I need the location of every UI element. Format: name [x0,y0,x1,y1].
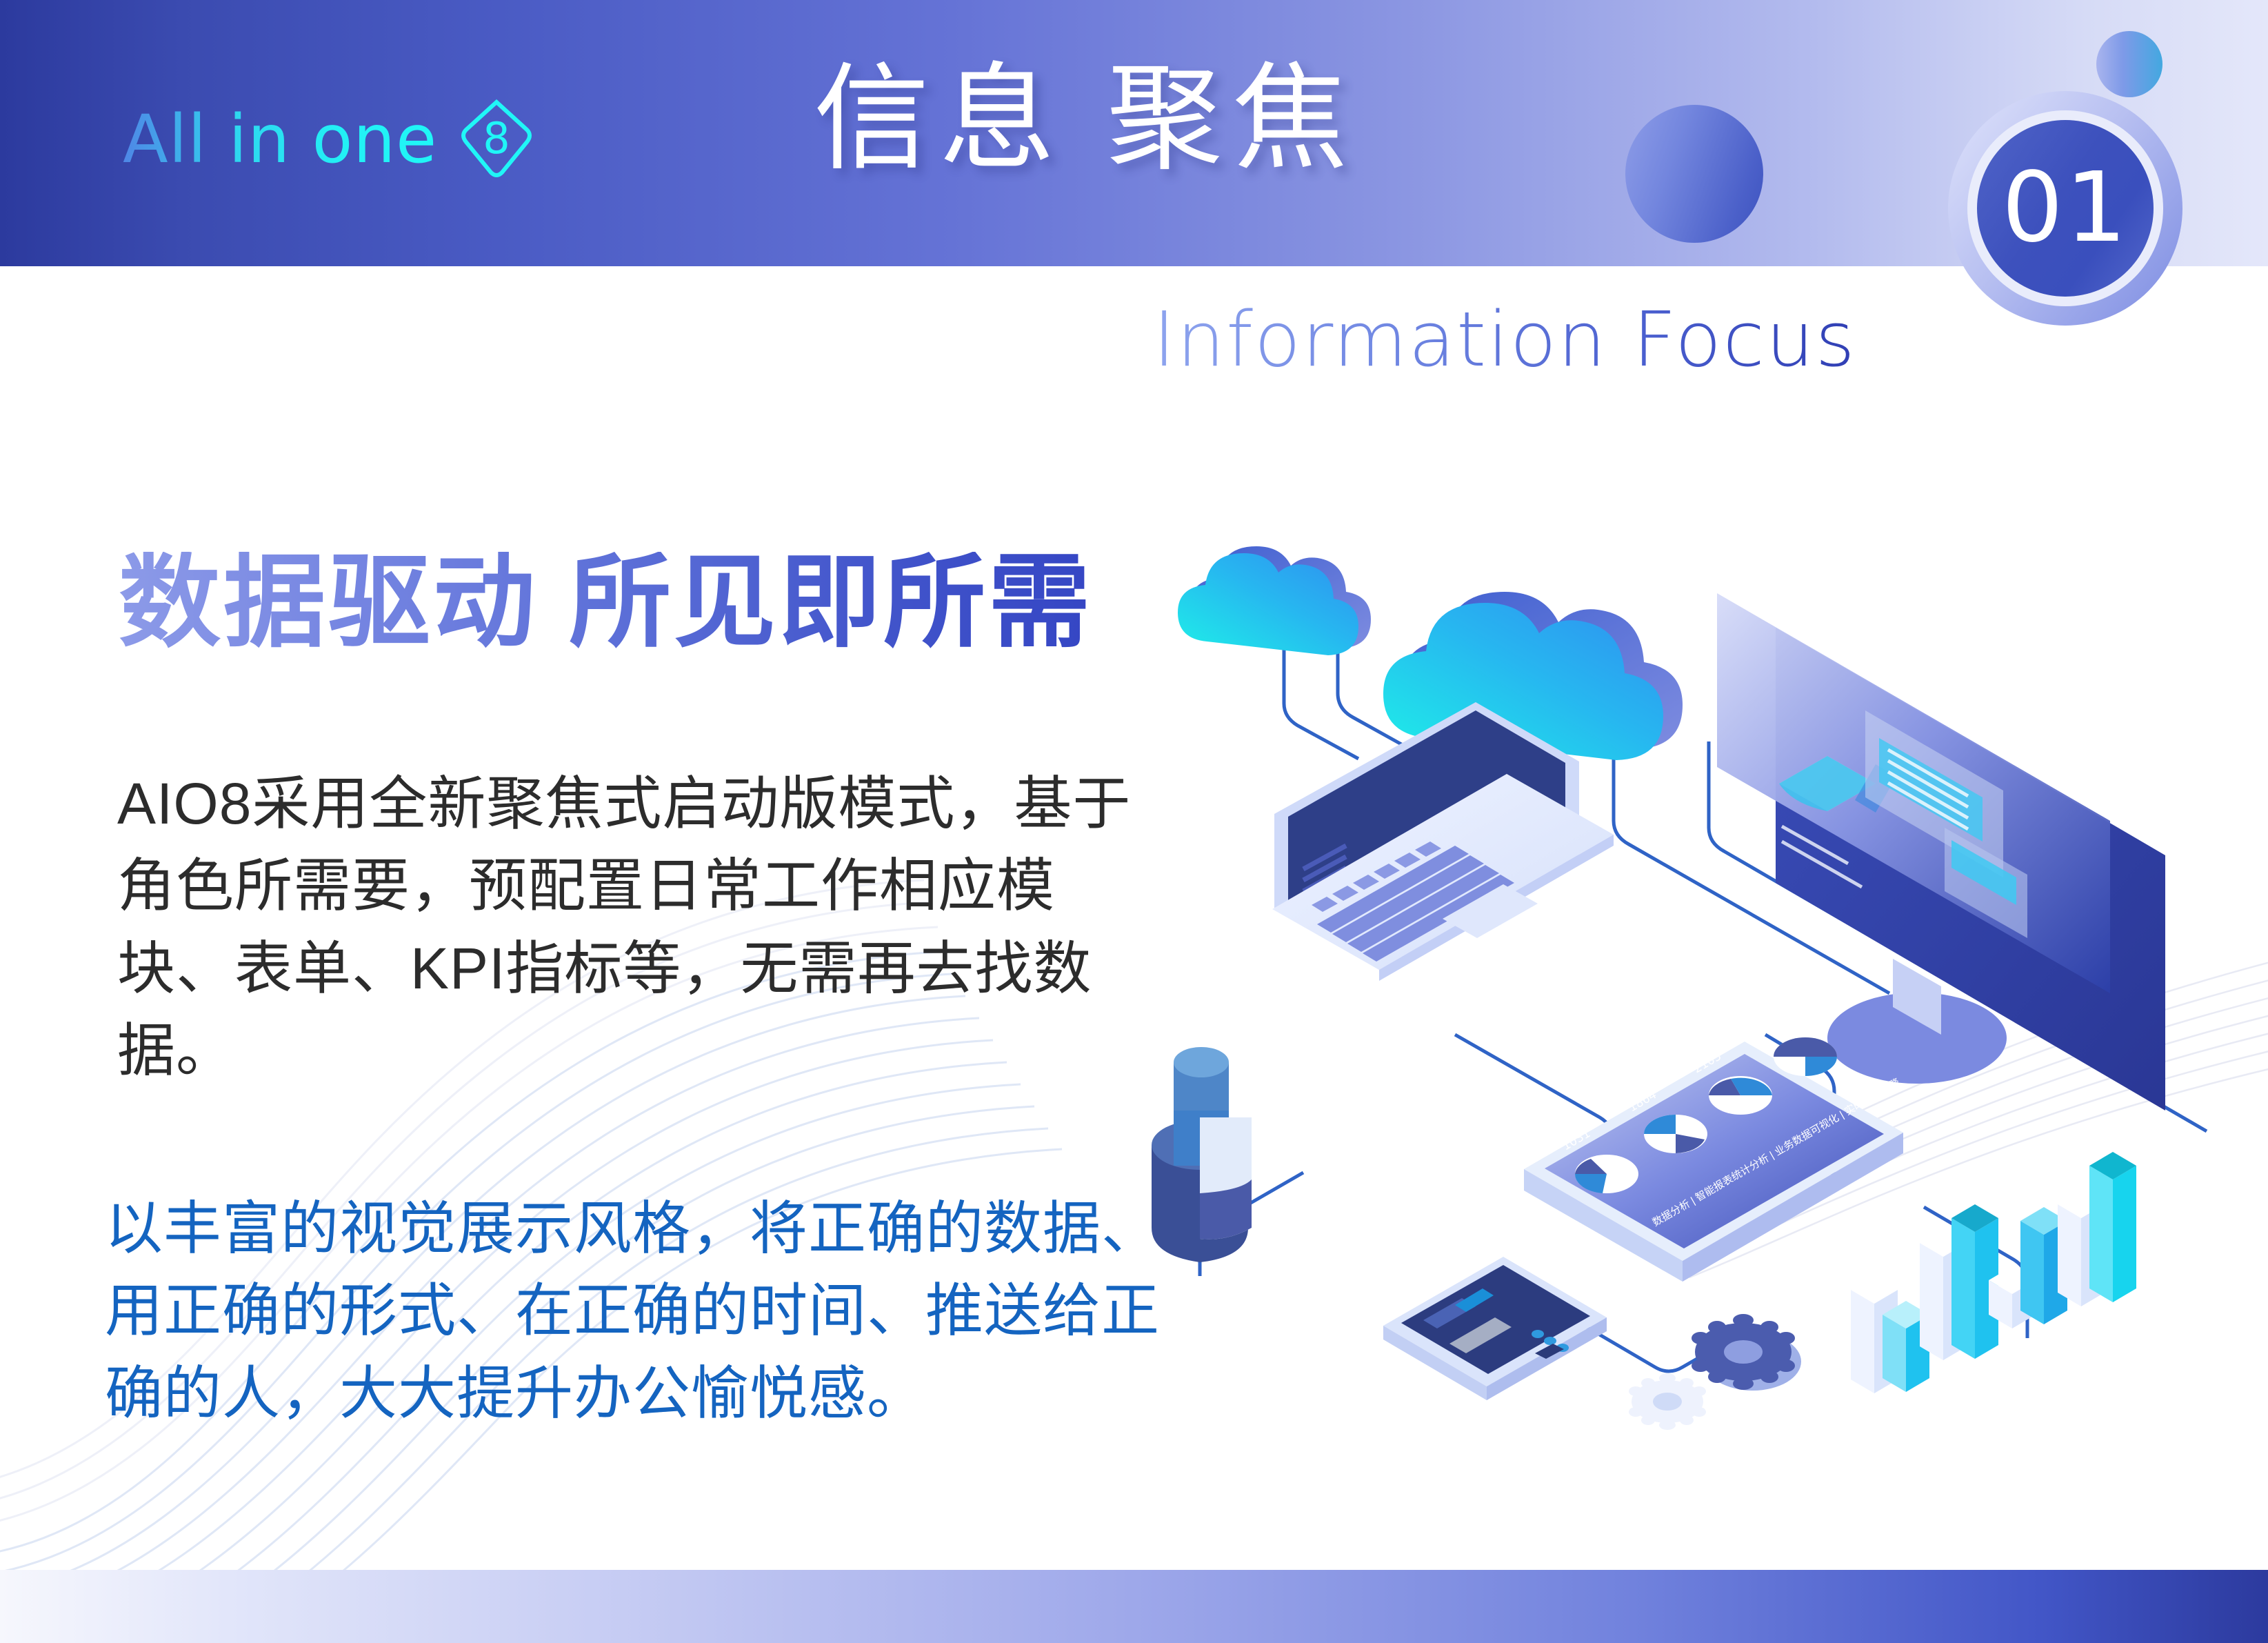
page-title: 信息 聚焦 [814,61,1358,177]
database-cylinder [1152,1047,1252,1262]
isometric-bar-chart [1851,1152,2136,1393]
body-paragraph-primary: AIO8采用全新聚焦式启动版模式，基于角色所需要，预配置日常工作相应模块、表单、… [117,763,1165,1092]
brand-logo-text: All in one [123,106,437,172]
isometric-data-illustration: 1031 1864 2105 3255 数据分析 | 智能报表统计分析 | 业务… [1131,414,2268,1462]
tablet-pie-4 [1774,1037,1837,1076]
tablet-pie-label-4: 3255 [1758,1010,1790,1037]
svg-text:8: 8 [483,113,510,163]
diamond-eight-icon: 8 [455,98,538,181]
section-number-badge: 01 [1948,91,2182,326]
cloud-icon-small [1178,546,1371,655]
tablet-pie-1 [1575,1155,1638,1193]
smartphone [1383,1257,1607,1400]
brand-logo: All in one 8 [123,98,538,181]
slide-root: All in one 8 信息 聚焦 Information Focus 01 [0,0,2268,1643]
desktop-monitor [1717,593,2165,1111]
header-decorative-circle-small [2096,31,2162,97]
badge-disc: 01 [1977,120,2154,297]
section-heading: 数据驱动 所见即所需 [119,552,1093,654]
body-paragraph-secondary: 以丰富的视觉展示风格，将正确的数据、用正确的形式、在正确的时间、推送给正确的人，… [105,1188,1187,1435]
gear-icon-large [1692,1314,1801,1391]
page-subtitle: Information Focus [1153,298,1856,381]
header-decorative-circle-large [1625,105,1763,243]
gear-icon-small [1629,1373,1706,1430]
section-number-label: 01 [2002,160,2129,257]
footer-bar [0,1570,2268,1643]
tablet-pie-3 [1709,1076,1772,1115]
tablet-pie-2 [1644,1115,1707,1153]
